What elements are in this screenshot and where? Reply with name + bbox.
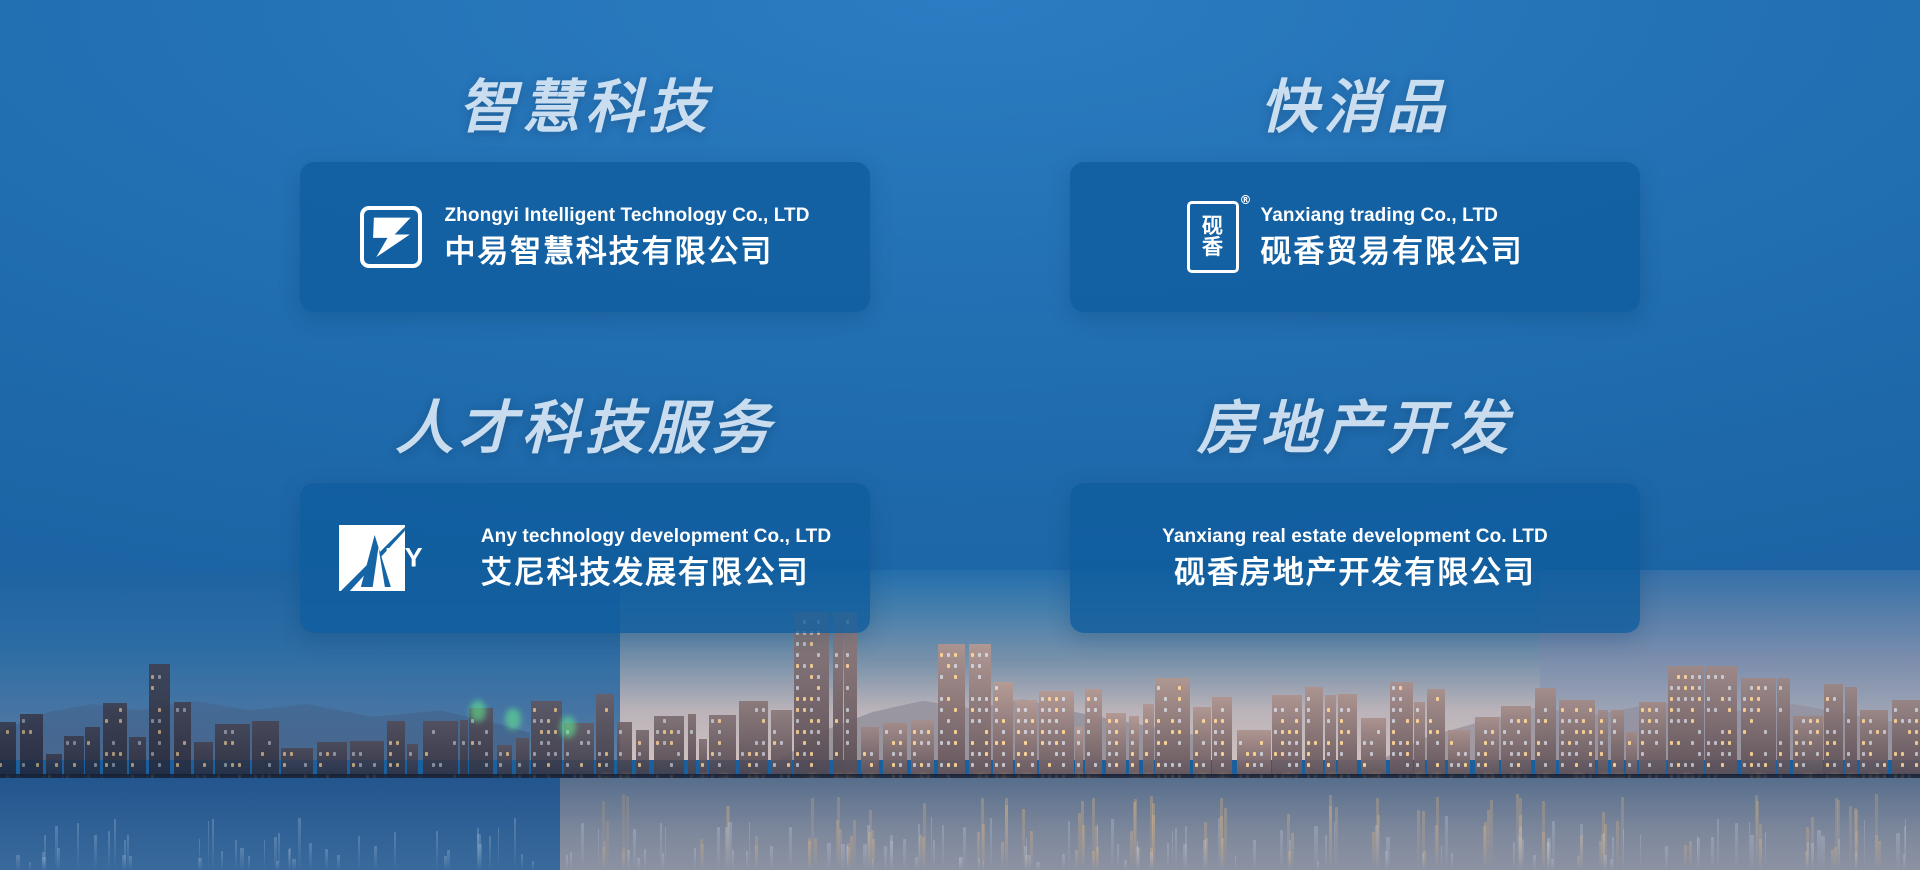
any-mountain-icon: NY: [339, 525, 459, 591]
company-names: Yanxiang trading Co., LTD 砚香贸易有限公司: [1261, 204, 1524, 271]
company-name-cn: 中易智慧科技有限公司: [444, 233, 809, 270]
company-name-en: Yanxiang trading Co., LTD: [1261, 204, 1524, 228]
company-card-any[interactable]: NY Any technology development Co., LTD 艾…: [300, 483, 870, 633]
company-name-en: Zhongyi Intelligent Technology Co., LTD: [444, 204, 809, 228]
registered-mark-icon: ®: [1240, 194, 1252, 206]
company-name-en: Any technology development Co., LTD: [481, 525, 831, 549]
segment-talent-tech-services: 人才科技服务 NY Any technology development Co.…: [300, 399, 870, 700]
segment-title: 快消品: [1260, 78, 1450, 136]
company-card-yanxiang-realestate[interactable]: Yanxiang real estate development Co. LTD…: [1070, 483, 1640, 633]
company-name-cn: 砚香贸易有限公司: [1261, 233, 1524, 270]
segment-title: 智慧科技: [459, 78, 712, 136]
segments-grid: 智慧科技 Zhongyi Intelligent Technology Co.,…: [0, 0, 1920, 870]
zhongyi-bolt-icon: [360, 206, 422, 268]
page-stage: 智慧科技 Zhongyi Intelligent Technology Co.,…: [0, 0, 1920, 870]
segment-smart-technology: 智慧科技 Zhongyi Intelligent Technology Co.,…: [300, 78, 870, 379]
company-names: Any technology development Co., LTD 艾尼科技…: [481, 525, 831, 592]
company-names: Zhongyi Intelligent Technology Co., LTD …: [444, 204, 809, 271]
segment-fmcg: 快消品 砚 香 ® Yanxiang trading Co., LTD 砚香贸易…: [1070, 78, 1640, 379]
yanxiang-seal-icon: 砚 香 ®: [1187, 201, 1239, 273]
company-name-cn: 艾尼科技发展有限公司: [481, 554, 831, 591]
seal-char-bottom: 香: [1202, 237, 1223, 258]
company-card-yanxiang-trading[interactable]: 砚 香 ® Yanxiang trading Co., LTD 砚香贸易有限公司: [1070, 162, 1640, 312]
segment-title: 房地产开发: [1197, 399, 1513, 457]
seal-char-top: 砚: [1202, 216, 1223, 237]
company-card-zhongyi[interactable]: Zhongyi Intelligent Technology Co., LTD …: [300, 162, 870, 312]
company-name-en: Yanxiang real estate development Co. LTD: [1162, 525, 1548, 549]
company-name-cn: 砚香房地产开发有限公司: [1174, 554, 1535, 591]
segment-real-estate: 房地产开发 Yanxiang real estate development C…: [1070, 399, 1640, 700]
segment-title: 人才科技服务: [395, 399, 774, 457]
any-logo-text: NY: [385, 543, 423, 574]
company-names: Yanxiang real estate development Co. LTD…: [1162, 525, 1548, 592]
